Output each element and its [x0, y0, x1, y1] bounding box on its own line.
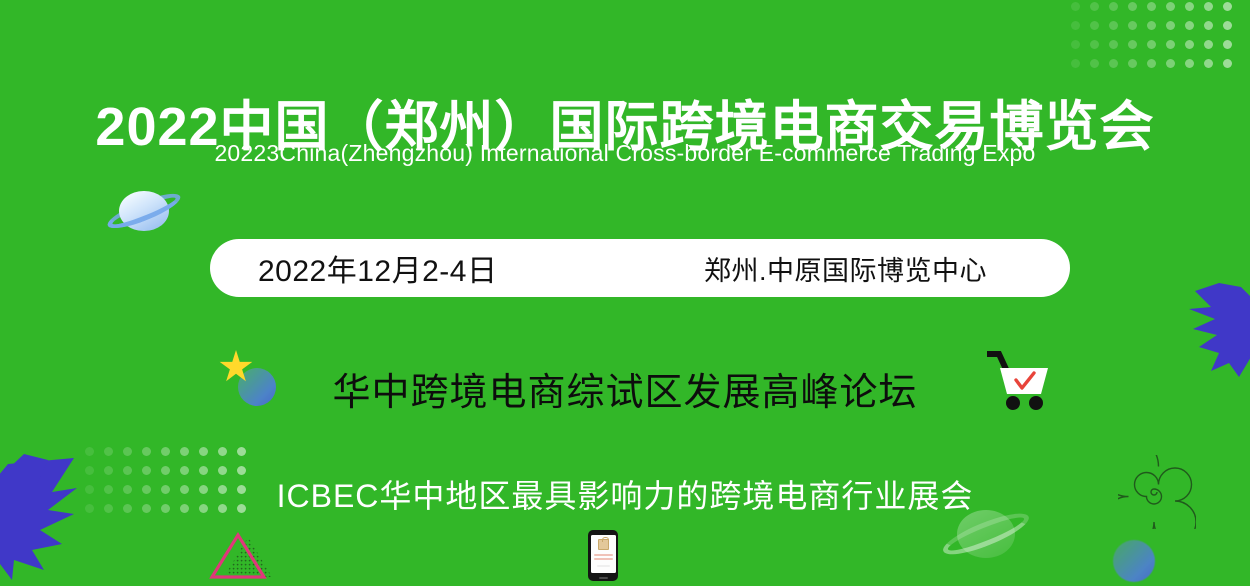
tagline: ICBEC华中地区最具影响力的跨境电商行业展会	[0, 471, 1250, 517]
page-subtitle: 20223China(Zhengzhou) International Cros…	[0, 140, 1250, 167]
event-venue: 郑州.中原国际博览中心	[704, 249, 987, 288]
event-date: 2022年12月2-4日	[258, 246, 497, 290]
forum-title: 华中跨境电商综试区发展高峰论坛	[0, 361, 1250, 416]
info-bar: 2022年12月2-4日 郑州.中原国际博览中心	[210, 239, 1070, 297]
poster-canvas: 2022中国（郑州）国际跨境电商交易博览会 20223China(Zhengzh…	[0, 0, 1250, 586]
